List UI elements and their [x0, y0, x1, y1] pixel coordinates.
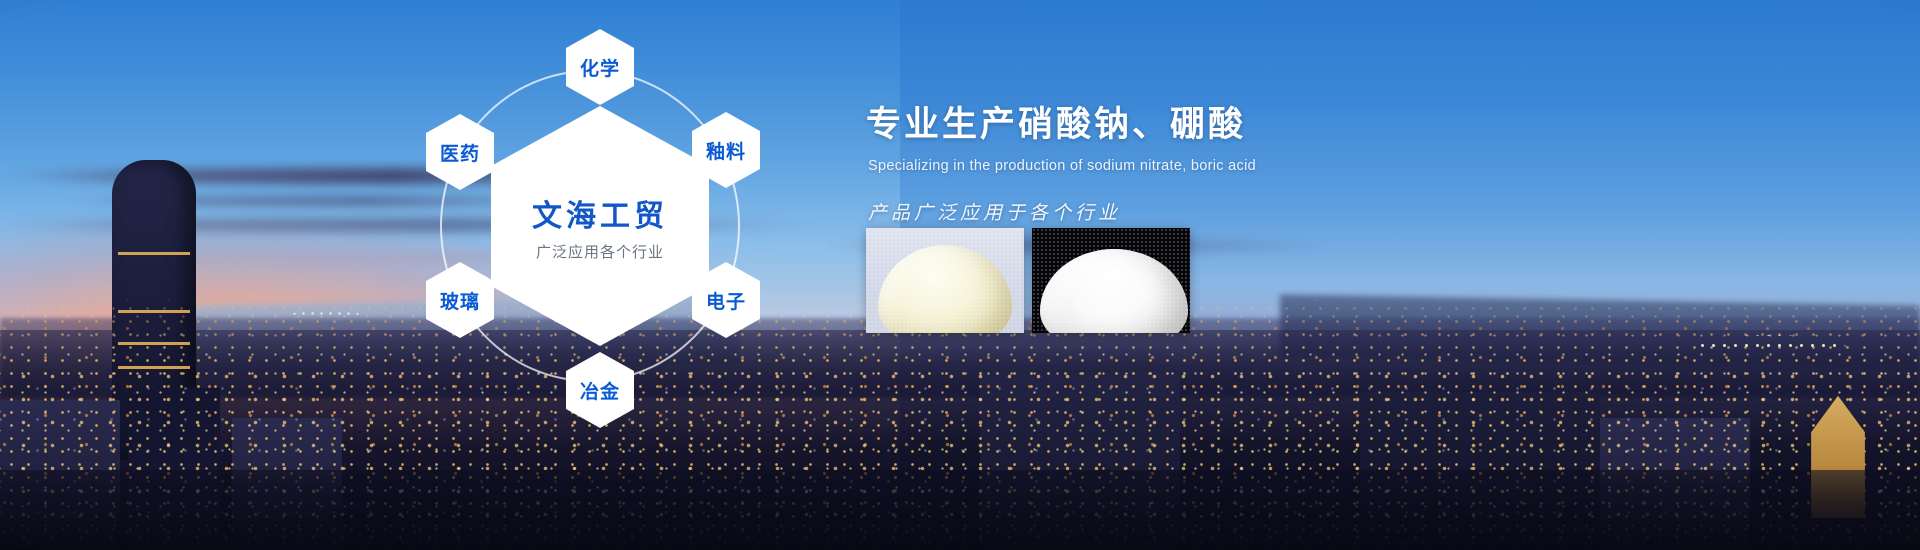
headline-subtitle-en: Specializing in the production of sodium… — [868, 158, 1626, 174]
hex-label: 釉料 — [706, 137, 746, 164]
powder-grain-texture — [866, 228, 1024, 333]
foreground-rooftop — [0, 470, 1920, 550]
bridge-right — [1620, 318, 1920, 348]
headline-title: 专业生产硝酸钠、硼酸 — [866, 96, 1626, 147]
industry-hex-diagram: 化学 医药 釉料 玻璃 电子 冶金 文海工贸 广泛应用各个行业 — [420, 30, 780, 430]
promo-banner: 化学 医药 釉料 玻璃 电子 冶金 文海工贸 广泛应用各个行业 专业生产硝酸钠、… — [0, 0, 1920, 550]
powder-grain-texture — [1032, 228, 1190, 333]
hex-label: 医药 — [440, 139, 480, 166]
hex-label: 冶金 — [580, 377, 620, 404]
product-photo-boric-acid[interactable] — [1032, 228, 1190, 333]
hex-label: 化学 — [580, 54, 620, 81]
headline-subtitle-cn: 产品广泛应用于各个行业 — [868, 198, 1626, 225]
hex-label: 玻璃 — [440, 287, 480, 314]
product-photo-sodium-nitrate[interactable] — [866, 228, 1024, 333]
product-photo-gallery — [866, 228, 1190, 333]
hex-label: 电子 — [706, 287, 746, 314]
company-name: 文海工贸 — [532, 191, 668, 235]
company-tagline: 广泛应用各个行业 — [536, 241, 664, 262]
headline-block: 专业生产硝酸钠、硼酸 Specializing in the productio… — [866, 96, 1626, 225]
